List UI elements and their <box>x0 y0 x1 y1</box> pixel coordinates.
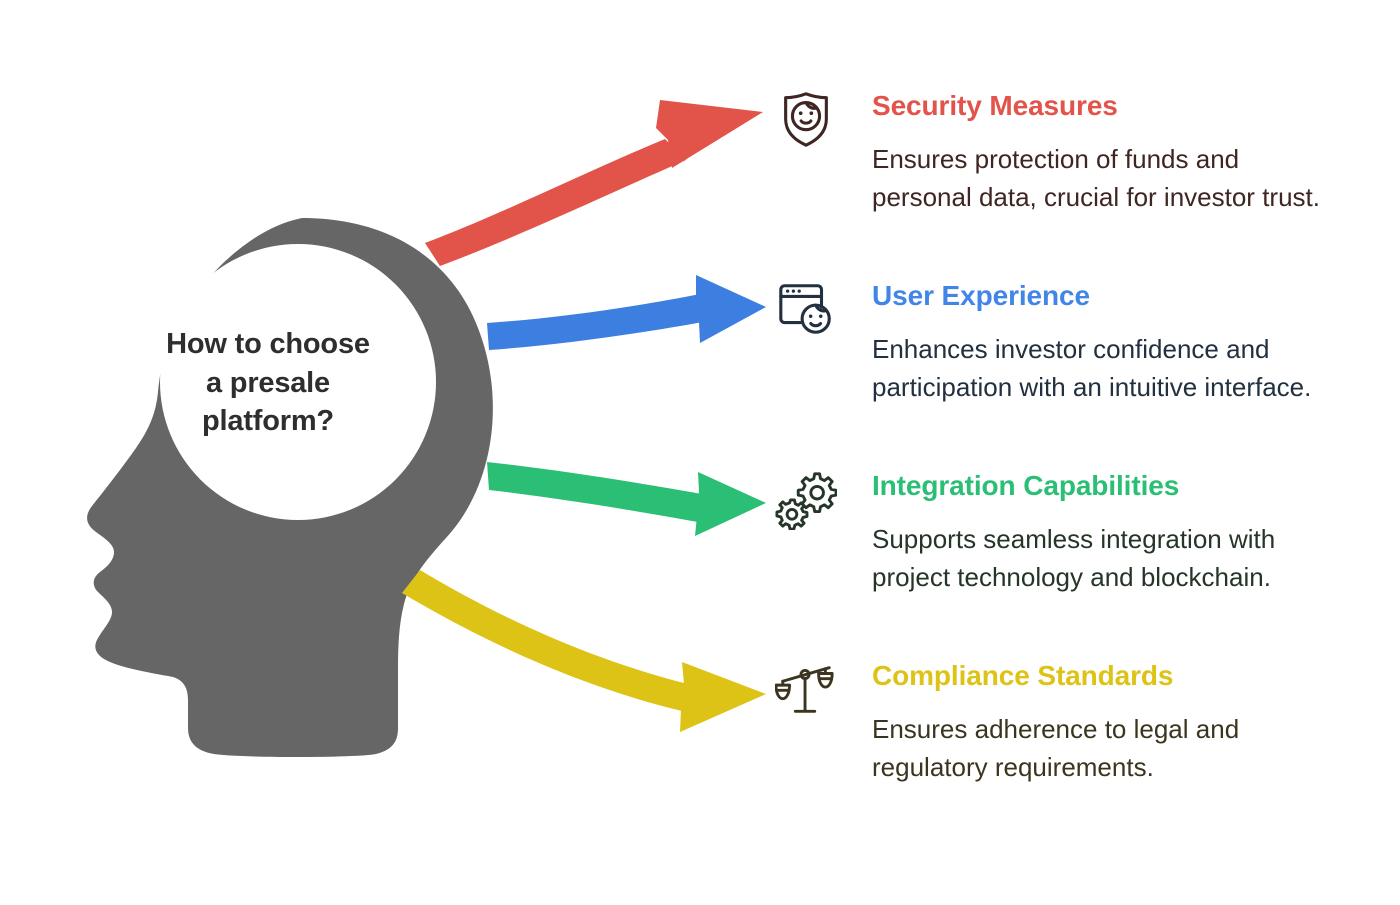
infographic-canvas: How to choose a presale platform? <box>0 0 1400 905</box>
balance-scales-icon <box>775 658 837 720</box>
branch-title-integration: Integration Capabilities <box>872 470 1179 502</box>
shield-face-icon <box>775 88 837 150</box>
branch-title-security: Security Measures <box>872 90 1118 122</box>
arrow-compliance <box>402 570 766 732</box>
arrow-user-experience <box>487 275 766 350</box>
branch-title-compliance: Compliance Standards <box>872 660 1173 692</box>
gears-icon <box>775 468 837 530</box>
branch-description-integration: Supports seamless integration with proje… <box>872 520 1342 597</box>
browser-window-face-icon <box>775 278 837 340</box>
branch-description-user-experience: Enhances investor confidence and partici… <box>872 330 1342 407</box>
arrow-integration <box>487 462 766 536</box>
arrow-security <box>425 100 763 266</box>
branch-title-user-experience: User Experience <box>872 280 1090 312</box>
branch-description-compliance: Ensures adherence to legal and regulator… <box>872 710 1342 787</box>
branch-description-security: Ensures protection of funds and personal… <box>872 140 1342 217</box>
